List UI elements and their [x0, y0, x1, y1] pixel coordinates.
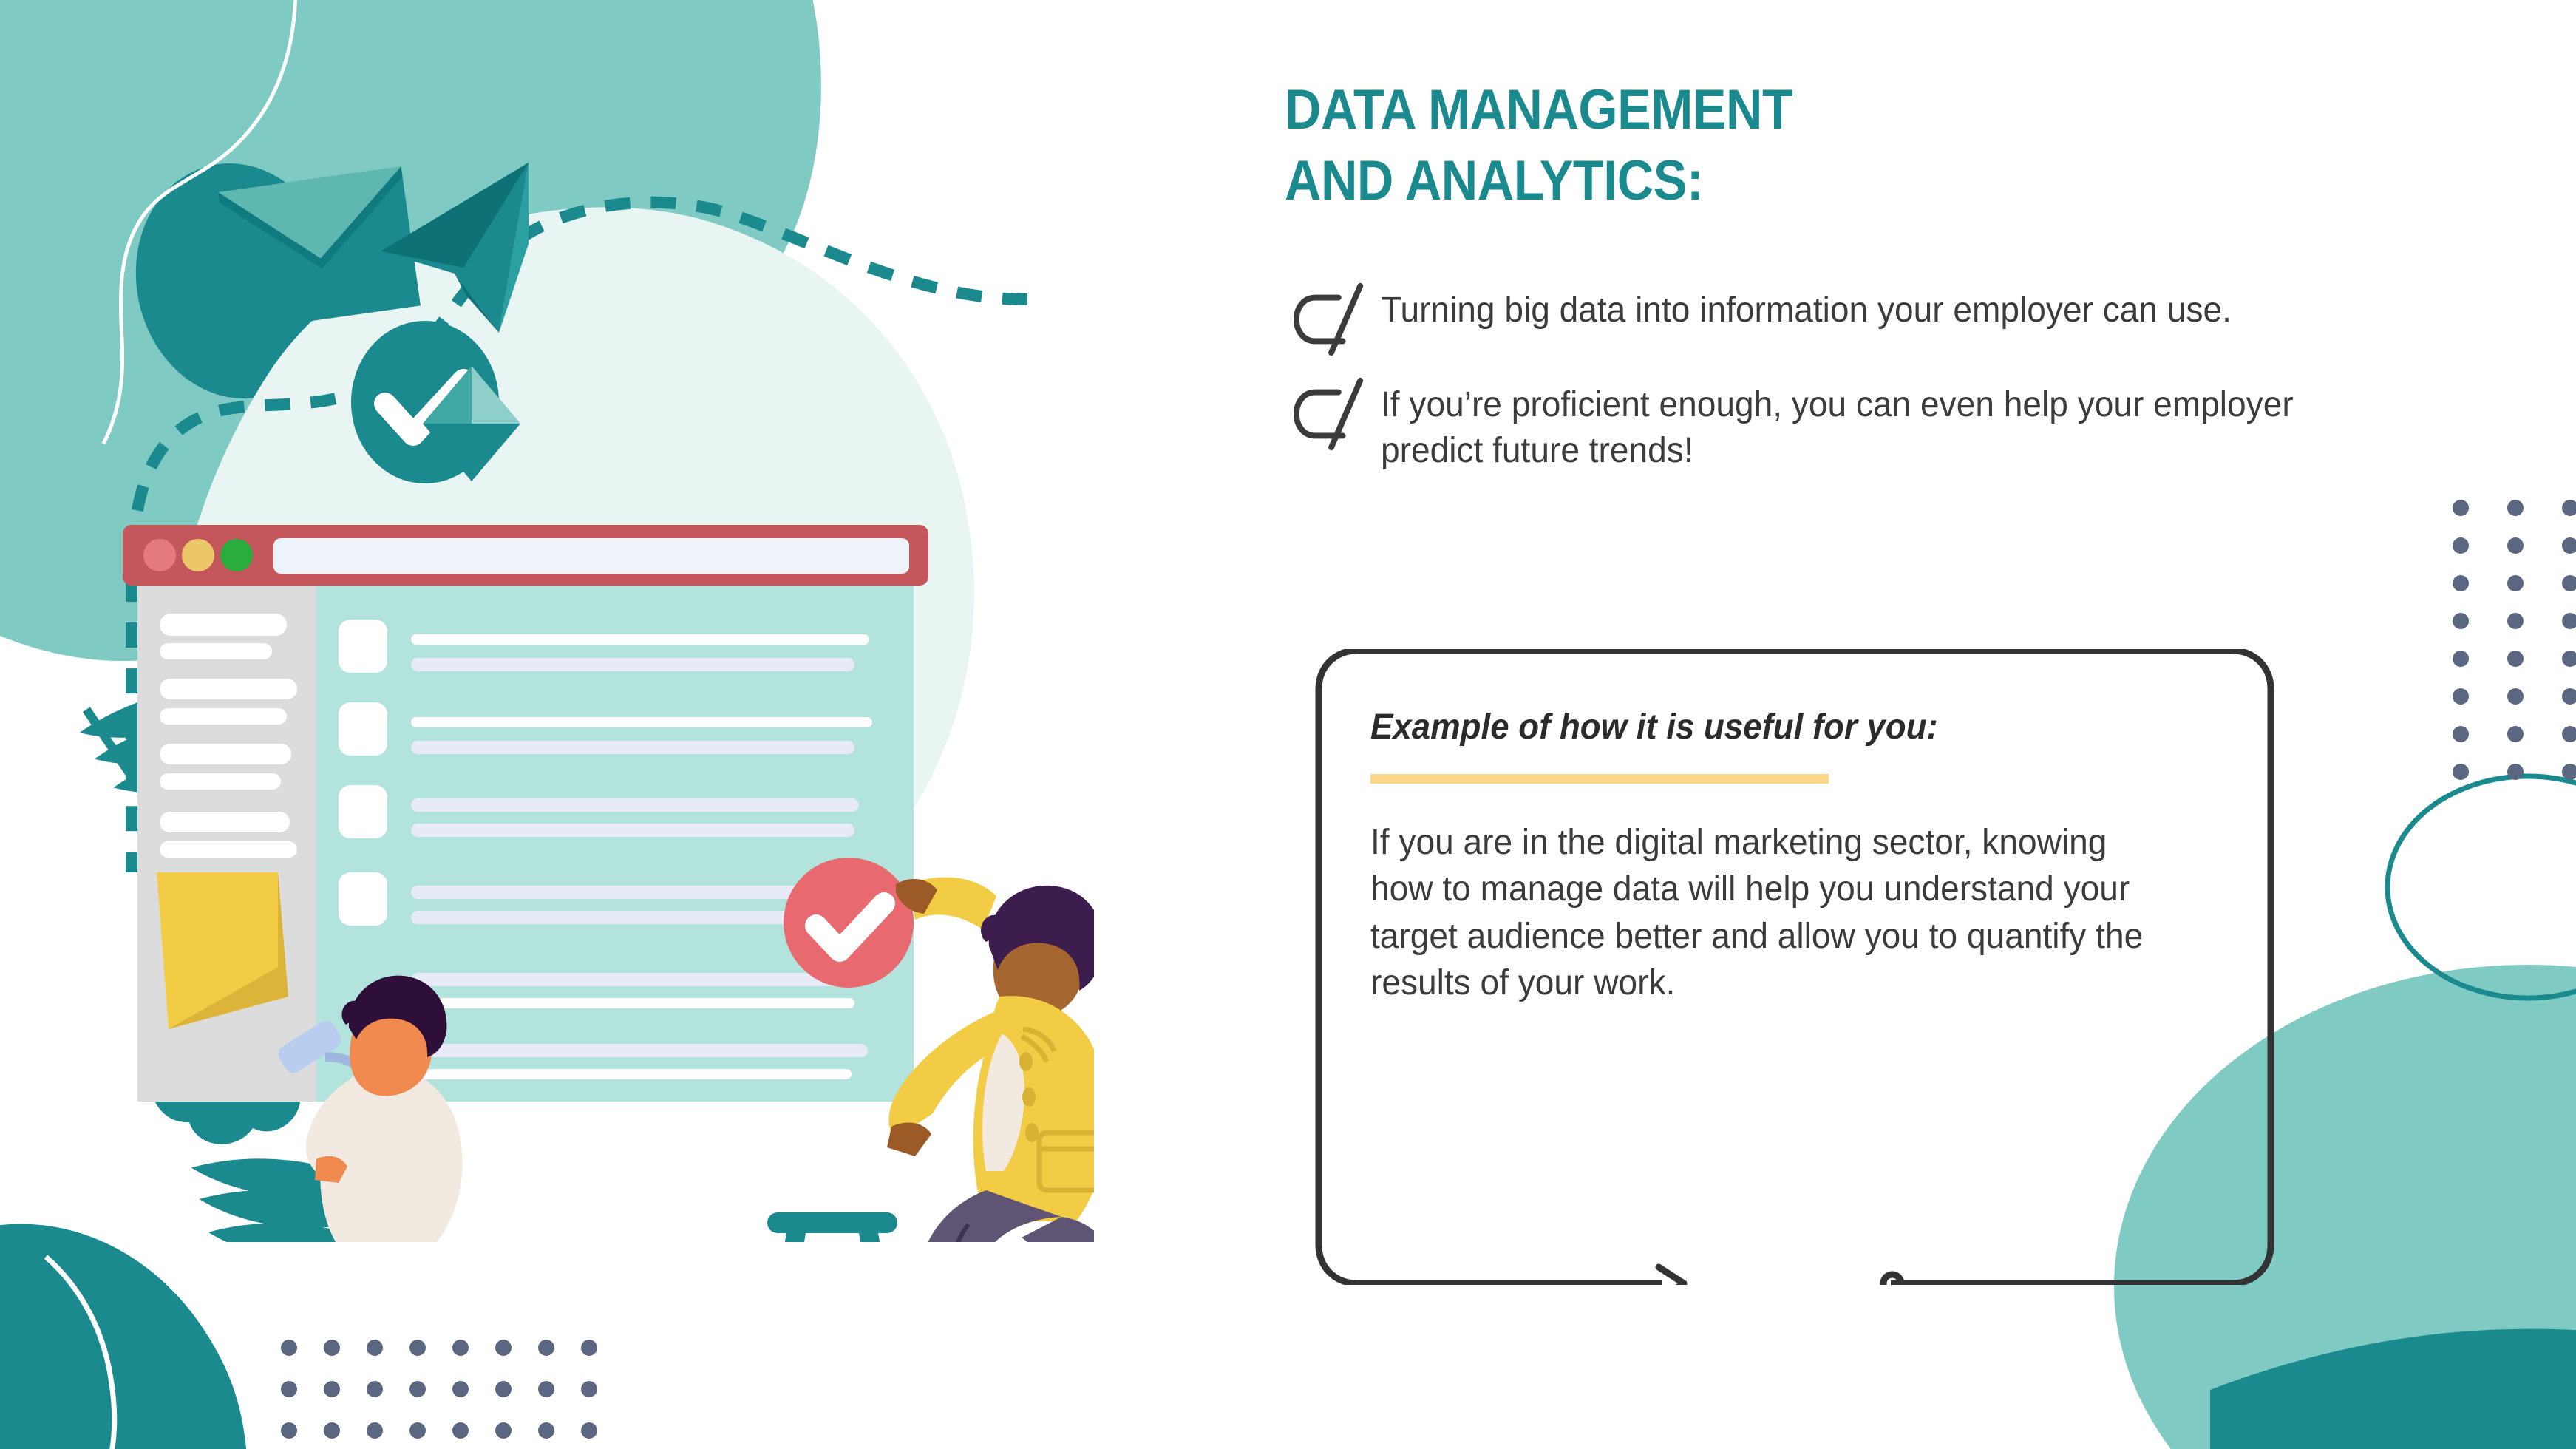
man-in-yellow-jacket: [887, 878, 1094, 1242]
example-card-heading: Example of how it is useful for you:: [1370, 707, 2164, 747]
decorative-dot: [581, 1381, 597, 1397]
decorative-dot: [367, 1340, 383, 1356]
traffic-light-green: [220, 539, 253, 571]
decorative-dot: [2562, 651, 2576, 667]
teal-stool: [767, 1212, 897, 1242]
browser-window: [123, 525, 928, 1102]
decorative-dot: [409, 1340, 426, 1356]
decorative-dot: [495, 1340, 512, 1356]
slashed-d-bullet-icon: [1291, 375, 1370, 455]
dot-grid-bottom-left: [281, 1340, 597, 1449]
decorative-dot: [538, 1422, 554, 1439]
decorative-dot: [324, 1381, 340, 1397]
decorative-dot: [367, 1422, 383, 1439]
address-bar: [273, 538, 909, 574]
decorative-dot: [2562, 688, 2576, 705]
decorative-dot: [367, 1381, 383, 1397]
decorative-dot: [409, 1381, 426, 1397]
decorative-dot: [281, 1422, 297, 1439]
decorative-dot: [2562, 764, 2576, 780]
content-column: DATA MANAGEMENT AND ANALYTICS: Turning b…: [1285, 0, 2512, 1449]
slide-canvas: DATA MANAGEMENT AND ANALYTICS: Turning b…: [0, 0, 2576, 1449]
red-check-circle-icon: [784, 858, 914, 988]
bullet-item: If you’re proficient enough, you can eve…: [1291, 379, 2444, 475]
slashed-d-bullet-icon: [1291, 280, 1370, 360]
decorative-dot: [324, 1422, 340, 1439]
example-card-body: If you are in the digital marketing sect…: [1370, 819, 2165, 1006]
decorative-dot: [281, 1381, 297, 1397]
decorative-dot: [324, 1340, 340, 1356]
decorative-dot: [538, 1381, 554, 1397]
traffic-light-yellow: [182, 539, 214, 571]
example-card-divider: [1370, 774, 1829, 784]
traffic-light-red: [143, 539, 176, 571]
decorative-dot: [452, 1340, 469, 1356]
decorative-dot: [2562, 613, 2576, 629]
example-card-content: Example of how it is useful for you: If …: [1370, 707, 2206, 1042]
bottom-left-dark-teal-blob: [0, 1224, 248, 1449]
decorative-dot: [281, 1340, 297, 1356]
title-line-2: AND ANALYTICS:: [1285, 152, 2150, 210]
bullet-text: If you’re proficient enough, you can eve…: [1381, 379, 2331, 475]
decorative-dot: [452, 1422, 469, 1439]
data-management-illustration: [44, 133, 1094, 1242]
example-card: Example of how it is useful for you: If …: [1314, 649, 2275, 1285]
decorative-dot: [2562, 726, 2576, 742]
decorative-dot: [2562, 537, 2576, 554]
decorative-dot: [581, 1422, 597, 1439]
decorative-dot: [2562, 575, 2576, 591]
bullet-item: Turning big data into information your e…: [1291, 285, 2444, 360]
decorative-dot: [452, 1381, 469, 1397]
page-title: DATA MANAGEMENT AND ANALYTICS:: [1285, 81, 2246, 223]
decorative-dot: [409, 1422, 426, 1439]
decorative-dot: [581, 1340, 597, 1356]
decorative-dot: [495, 1422, 512, 1439]
arrow-head-icon: [1659, 1267, 1684, 1285]
bullet-text: Turning big data into information your e…: [1381, 285, 2232, 333]
decorative-dot: [495, 1381, 512, 1397]
decorative-dot: [2562, 500, 2576, 516]
title-line-1: DATA MANAGEMENT: [1285, 81, 2150, 139]
bullet-list: Turning big data into information your e…: [1291, 285, 2444, 494]
decorative-dot: [538, 1340, 554, 1356]
